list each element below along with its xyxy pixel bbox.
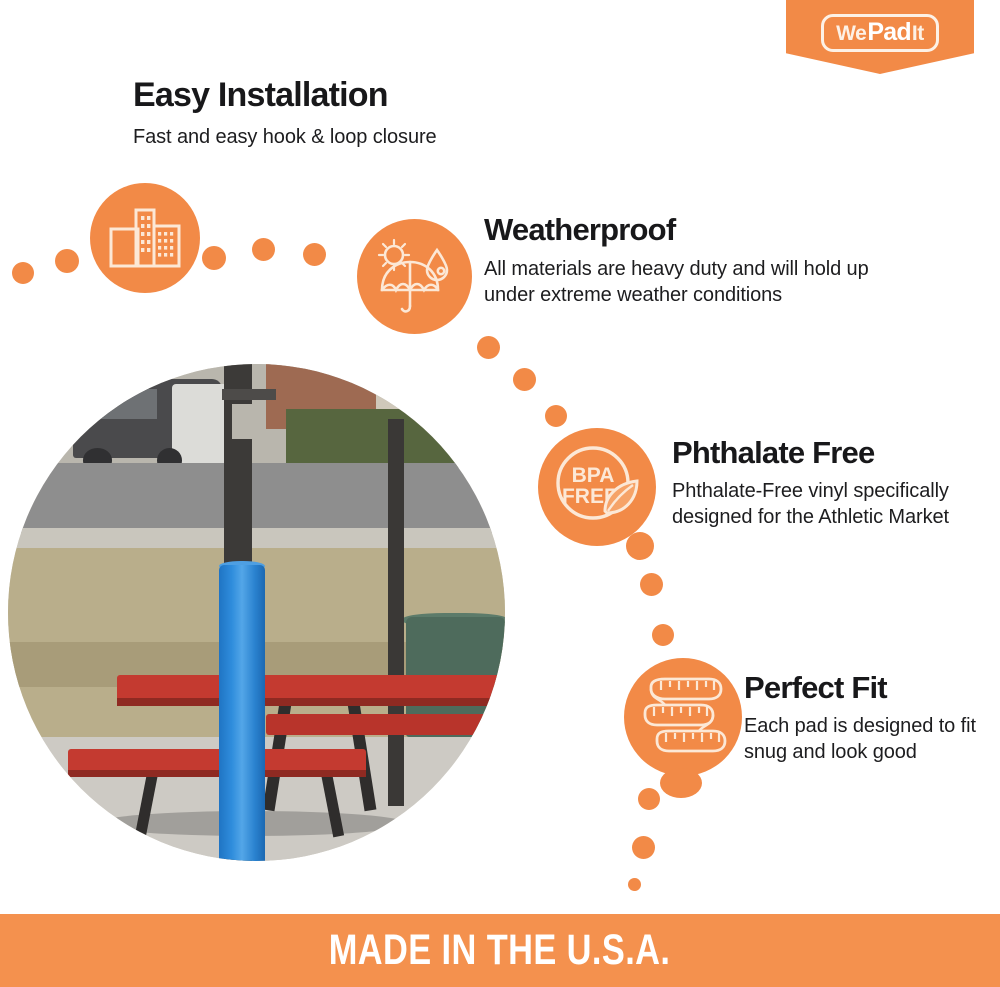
photo-post-plate bbox=[232, 404, 252, 439]
brand-logo-pad: Pad bbox=[866, 20, 911, 45]
trail-dot bbox=[640, 573, 663, 596]
photo-curb bbox=[8, 528, 505, 548]
feature-block-weatherproof: Weatherproof All materials are heavy dut… bbox=[484, 214, 904, 309]
trail-dot bbox=[12, 262, 34, 284]
building-icon bbox=[90, 183, 200, 293]
feature-block-easy-installation: Easy Installation Fast and easy hook & l… bbox=[133, 78, 553, 150]
trail-dot bbox=[55, 249, 79, 273]
tape-measure-icon bbox=[624, 658, 742, 776]
feature-title: Perfect Fit bbox=[744, 672, 984, 705]
feature-title: Easy Installation bbox=[133, 78, 553, 114]
feature-description: All materials are heavy duty and will ho… bbox=[484, 256, 904, 309]
tape-icon-blob bbox=[660, 768, 702, 798]
feature-description: Phthalate-Free vinyl specifically design… bbox=[672, 478, 972, 531]
trail-dot bbox=[632, 836, 655, 859]
made-in-usa-text: MADE IN THE U.S.A. bbox=[329, 926, 671, 975]
photo-pole-pad bbox=[219, 565, 265, 861]
brand-logo-it: It bbox=[912, 23, 924, 44]
bpa-icon-blob bbox=[626, 532, 654, 560]
feature-title: Phthalate Free bbox=[672, 437, 972, 470]
umbrella-sun-raindrop-icon bbox=[357, 219, 472, 334]
photo-suv-window bbox=[88, 389, 158, 419]
made-in-usa-banner: MADE IN THE U.S.A. bbox=[0, 914, 1000, 987]
trail-dot bbox=[477, 336, 500, 359]
trail-dot bbox=[252, 238, 275, 261]
photo-table-top-edge bbox=[117, 698, 505, 706]
bpa-label-line1: BPA bbox=[572, 464, 615, 487]
feature-description: Each pad is designed to fit snug and loo… bbox=[744, 713, 984, 766]
trail-dot bbox=[303, 243, 326, 266]
trail-dot bbox=[202, 246, 226, 270]
photo-post-bracket bbox=[222, 389, 277, 400]
bpa-free-leaf-icon: BPA FREE bbox=[538, 428, 656, 546]
trail-dot bbox=[545, 405, 567, 427]
trail-dot bbox=[638, 788, 660, 810]
photo-road bbox=[8, 463, 505, 533]
infographic-page: We Pad It bbox=[0, 0, 1000, 987]
trail-dot bbox=[628, 878, 641, 891]
brand-logo-banner: We Pad It bbox=[786, 0, 974, 74]
feature-block-perfect-fit: Perfect Fit Each pad is designed to fit … bbox=[744, 672, 984, 766]
feature-description: Fast and easy hook & loop closure bbox=[133, 124, 553, 151]
trail-dot bbox=[513, 368, 536, 391]
product-photo bbox=[8, 364, 505, 861]
brand-logo-box: We Pad It bbox=[821, 14, 939, 52]
photo-post-right bbox=[388, 419, 404, 807]
feature-block-phthalate-free: Phthalate Free Phthalate-Free vinyl spec… bbox=[672, 437, 972, 531]
trail-dot bbox=[652, 624, 674, 646]
photo-bench-front-edge bbox=[68, 770, 366, 778]
photo-bench-back bbox=[266, 714, 505, 735]
feature-title: Weatherproof bbox=[484, 214, 904, 247]
brand-logo-we: We bbox=[836, 23, 866, 44]
